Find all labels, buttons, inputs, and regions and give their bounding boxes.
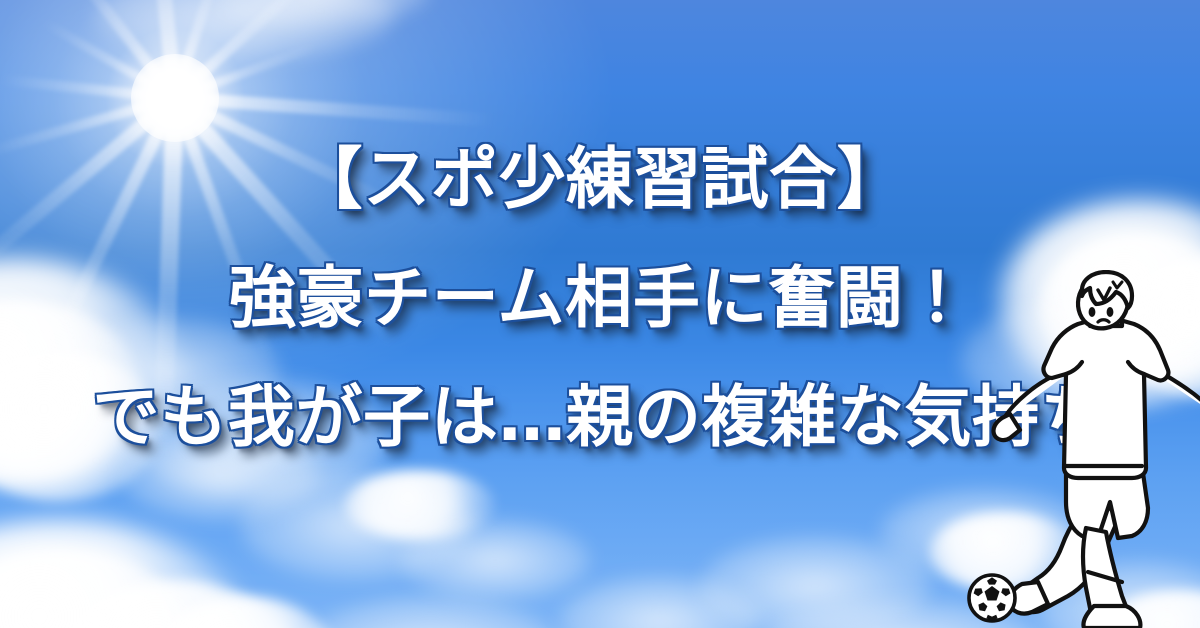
sun-core [131, 54, 219, 142]
eyecatch-banner: 【スポ少練習試合】 強豪チーム相手に奮闘！ でも我が子は…親の複雑な気持ち [0, 0, 1200, 628]
soccer-ball-icon [966, 572, 1018, 624]
